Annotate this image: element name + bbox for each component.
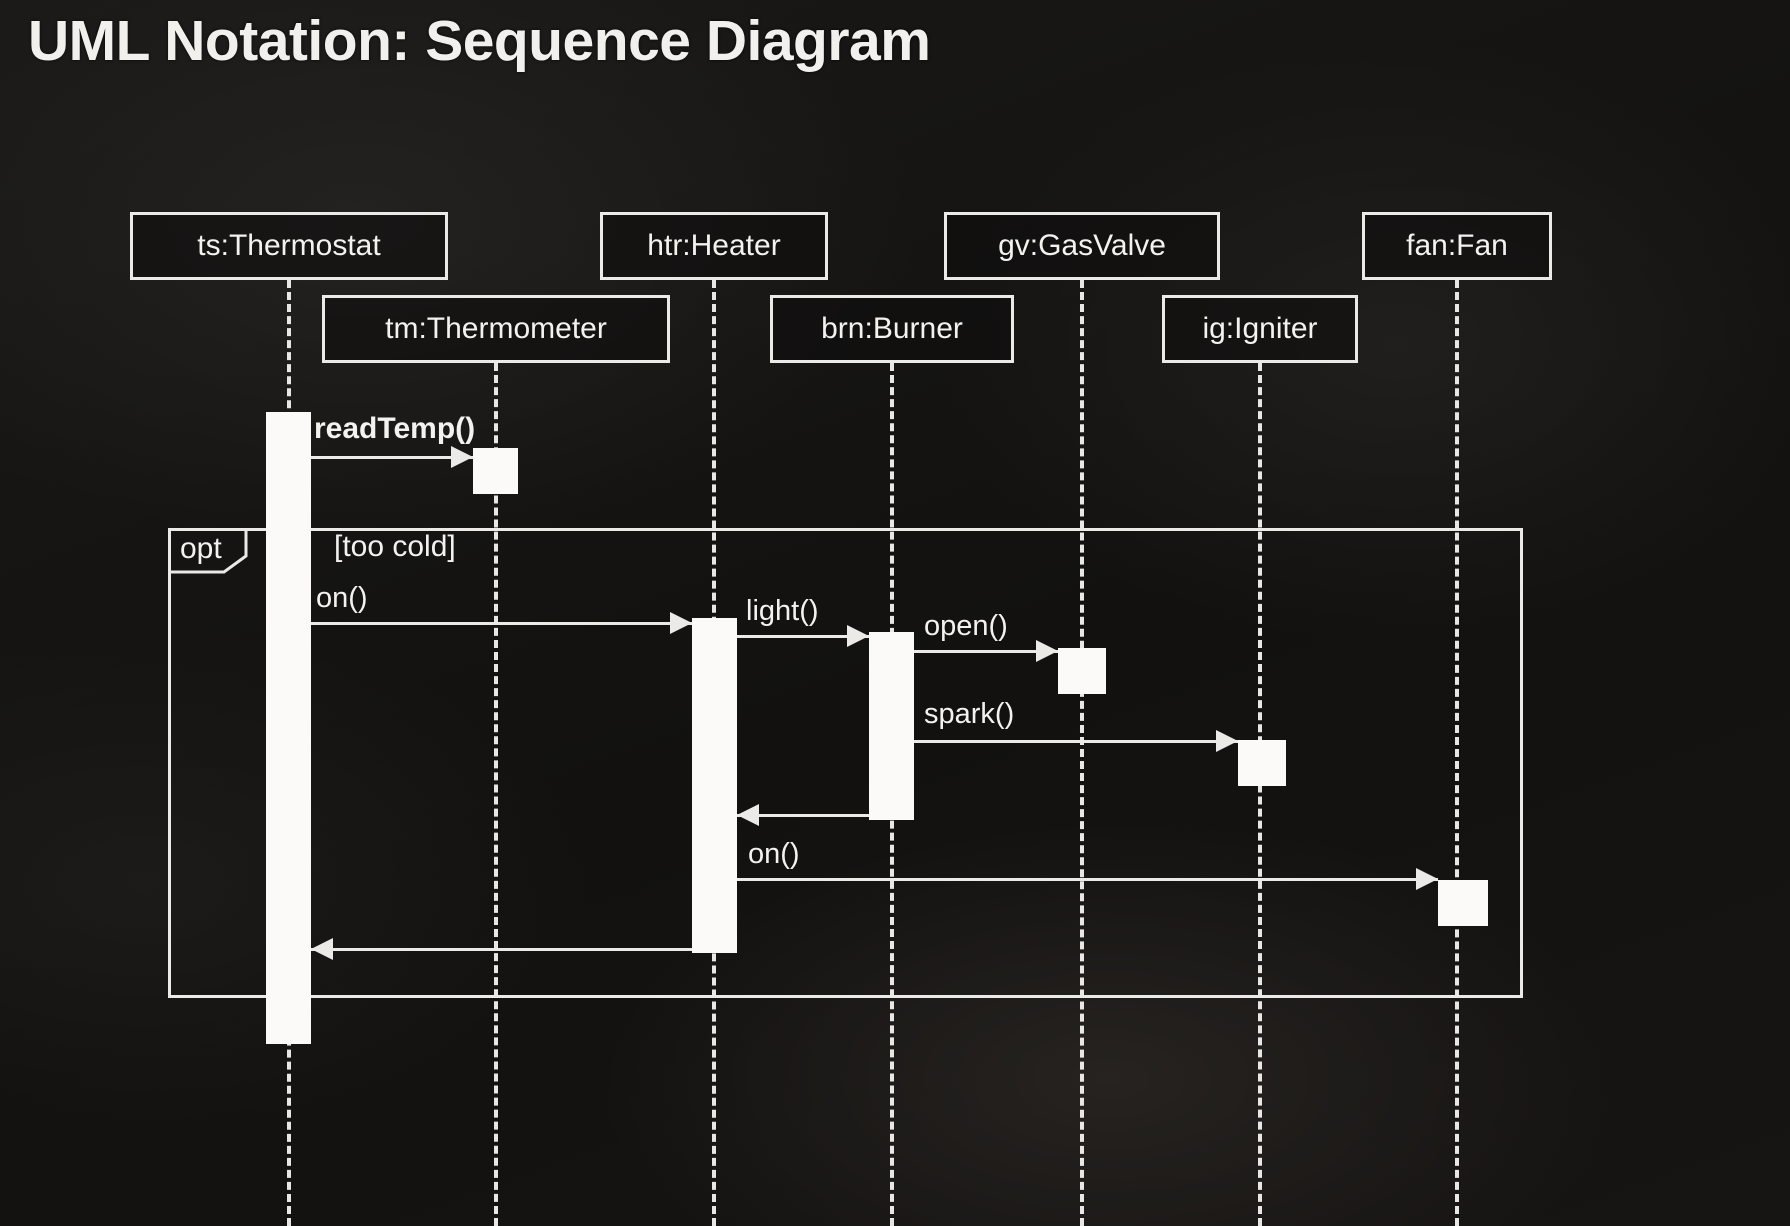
- message-arrowhead-right-m7: [1416, 868, 1438, 890]
- activation-gv: [1058, 648, 1106, 694]
- sequence-diagram-slide: UML Notation: Sequence Diagram opt [too …: [0, 0, 1790, 1226]
- message-line-m7: [737, 878, 1438, 881]
- message-label-m1: readTemp(): [314, 412, 475, 446]
- message-arrowhead-left-m6: [737, 804, 759, 826]
- participant-label-tm: tm:Thermometer: [385, 312, 607, 346]
- message-line-m8: [311, 948, 692, 951]
- opt-fragment-label: opt: [180, 532, 222, 566]
- participant-gv[interactable]: gv:GasValve: [944, 212, 1220, 280]
- participant-tm[interactable]: tm:Thermometer: [322, 295, 670, 363]
- message-line-m1: [311, 456, 473, 459]
- opt-fragment-frame: [168, 528, 1523, 998]
- activation-fan: [1438, 880, 1488, 926]
- participant-ts[interactable]: ts:Thermostat: [130, 212, 448, 280]
- message-arrowhead-right-m1: [451, 446, 473, 468]
- activation-tm: [473, 448, 518, 494]
- activation-brn: [869, 632, 914, 820]
- activation-ig: [1238, 740, 1286, 786]
- participant-htr[interactable]: htr:Heater: [600, 212, 828, 280]
- activation-htr: [692, 618, 737, 953]
- message-arrowhead-right-m3: [847, 625, 869, 647]
- message-label-m2: on(): [316, 582, 368, 615]
- participant-label-gv: gv:GasValve: [998, 229, 1166, 263]
- activation-ts: [266, 412, 311, 1044]
- participant-label-brn: brn:Burner: [821, 312, 963, 346]
- message-line-m2: [311, 622, 692, 625]
- participant-label-fan: fan:Fan: [1406, 229, 1508, 263]
- participant-brn[interactable]: brn:Burner: [770, 295, 1014, 363]
- participant-label-ig: ig:Igniter: [1202, 312, 1317, 346]
- opt-fragment-guard: [too cold]: [334, 530, 456, 564]
- participant-label-htr: htr:Heater: [647, 229, 780, 263]
- message-label-m5: spark(): [924, 698, 1014, 731]
- message-arrowhead-right-m4: [1036, 640, 1058, 662]
- message-label-m7: on(): [748, 838, 800, 871]
- page-title: UML Notation: Sequence Diagram: [28, 8, 930, 74]
- participant-ig[interactable]: ig:Igniter: [1162, 295, 1358, 363]
- message-arrowhead-left-m8: [311, 938, 333, 960]
- message-arrowhead-right-m2: [670, 612, 692, 634]
- message-label-m3: light(): [746, 595, 819, 628]
- message-label-m4: open(): [924, 610, 1008, 643]
- message-line-m5: [914, 740, 1238, 743]
- participant-fan[interactable]: fan:Fan: [1362, 212, 1552, 280]
- message-arrowhead-right-m5: [1216, 730, 1238, 752]
- participant-label-ts: ts:Thermostat: [197, 229, 380, 263]
